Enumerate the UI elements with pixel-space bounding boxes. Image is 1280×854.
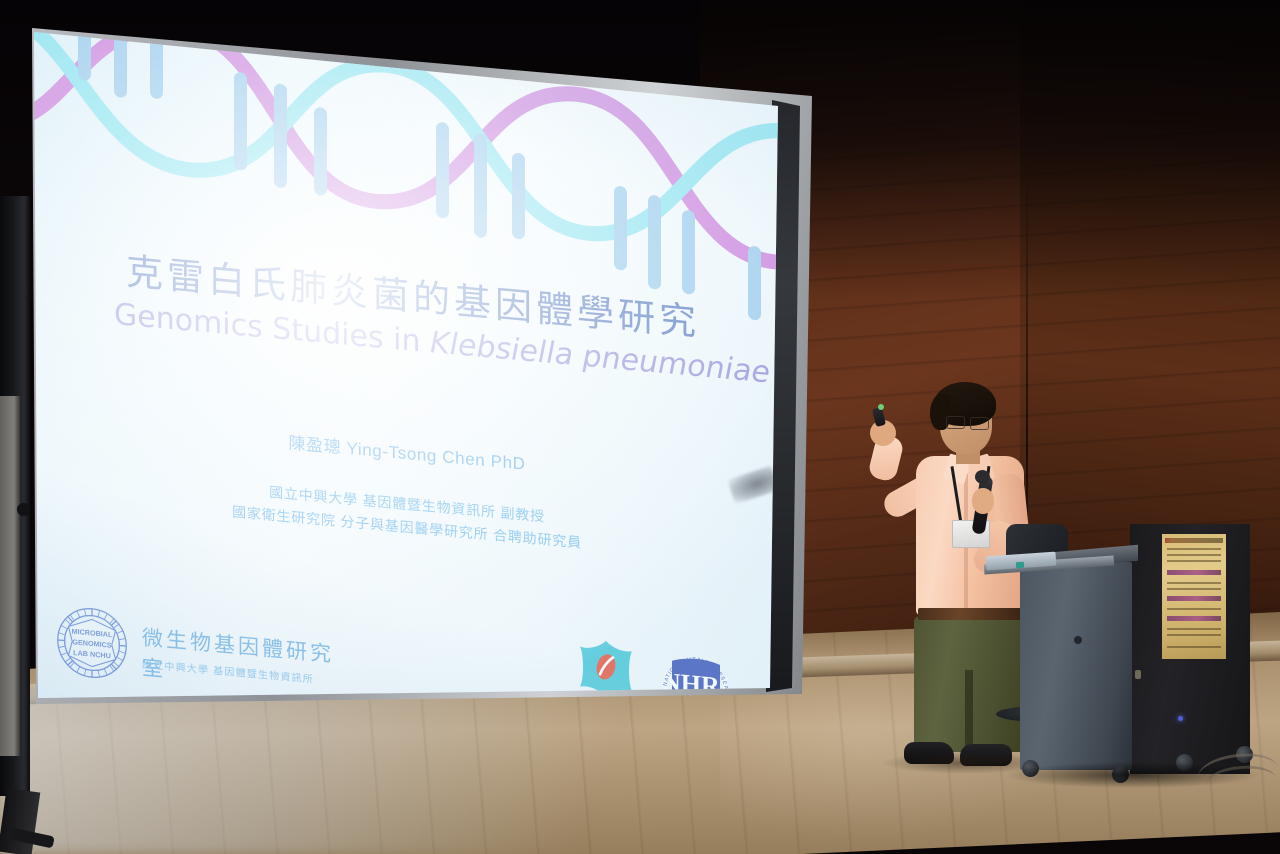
poster-text-line	[1167, 588, 1221, 590]
poster-highlight-bar	[1167, 596, 1221, 601]
podium-knob	[1074, 636, 1082, 644]
clicker-led-icon	[878, 404, 884, 410]
eyeglasses-left-lens-icon	[946, 416, 965, 429]
nhri-emblem-icon: NHRI NATIONAL HEALTH RESEARCH INSTITUTES	[658, 640, 734, 728]
poster-text-line	[1167, 608, 1221, 610]
poster-text-line	[1167, 582, 1221, 584]
laptop-indicator-icon	[1016, 562, 1024, 569]
whiteboard-frame	[0, 196, 30, 796]
projection-screen: 克雷白氏肺炎菌的基因體學研究 Genomics Studies in Klebs…	[30, 0, 820, 728]
speaker-mic-hand	[972, 488, 994, 514]
poster-text-line	[1167, 628, 1221, 630]
podium-cabinet-front	[1020, 562, 1132, 770]
poster-highlight-bar	[1167, 616, 1221, 621]
poster-highlight-bar	[1167, 570, 1221, 575]
whiteboard-knob	[17, 503, 30, 516]
screen-surface: 克雷白氏肺炎菌的基因體學研究 Genomics Studies in Klebs…	[30, 0, 820, 728]
nchu-name-english: National Chung Hsing University	[576, 716, 658, 728]
slide-content: 克雷白氏肺炎菌的基因體學研究 Genomics Studies in Klebs…	[36, 28, 778, 728]
poster-text-line	[1167, 554, 1221, 556]
poster-text-line	[1167, 548, 1221, 550]
whiteboard-surface	[0, 396, 20, 756]
eyeglasses-right-lens-icon	[970, 417, 989, 430]
poster-text-line	[1167, 634, 1221, 636]
poster-text-line	[1167, 646, 1221, 648]
nchu-name-chinese: 國立中興大學	[576, 698, 658, 722]
av-podium	[1000, 516, 1260, 806]
poster-header-band	[1165, 538, 1223, 543]
podium-notice-poster	[1162, 534, 1226, 659]
presentation-photo-scene: 克雷白氏肺炎菌的基因體學研究 Genomics Studies in Klebs…	[0, 0, 1280, 854]
nhri-logo: NHRI NATIONAL HEALTH RESEARCH INSTITUTES	[658, 640, 734, 728]
podium-power-led-icon	[1178, 716, 1183, 721]
podium-lock-icon	[1135, 670, 1141, 679]
poster-text-line	[1167, 560, 1221, 562]
microbial-genomics-ring-icon: MICROBIAL GENOMICS LAB NCHU	[54, 602, 130, 685]
nchu-logo: 國立中興大學 National Chung Hsing University	[576, 636, 658, 728]
